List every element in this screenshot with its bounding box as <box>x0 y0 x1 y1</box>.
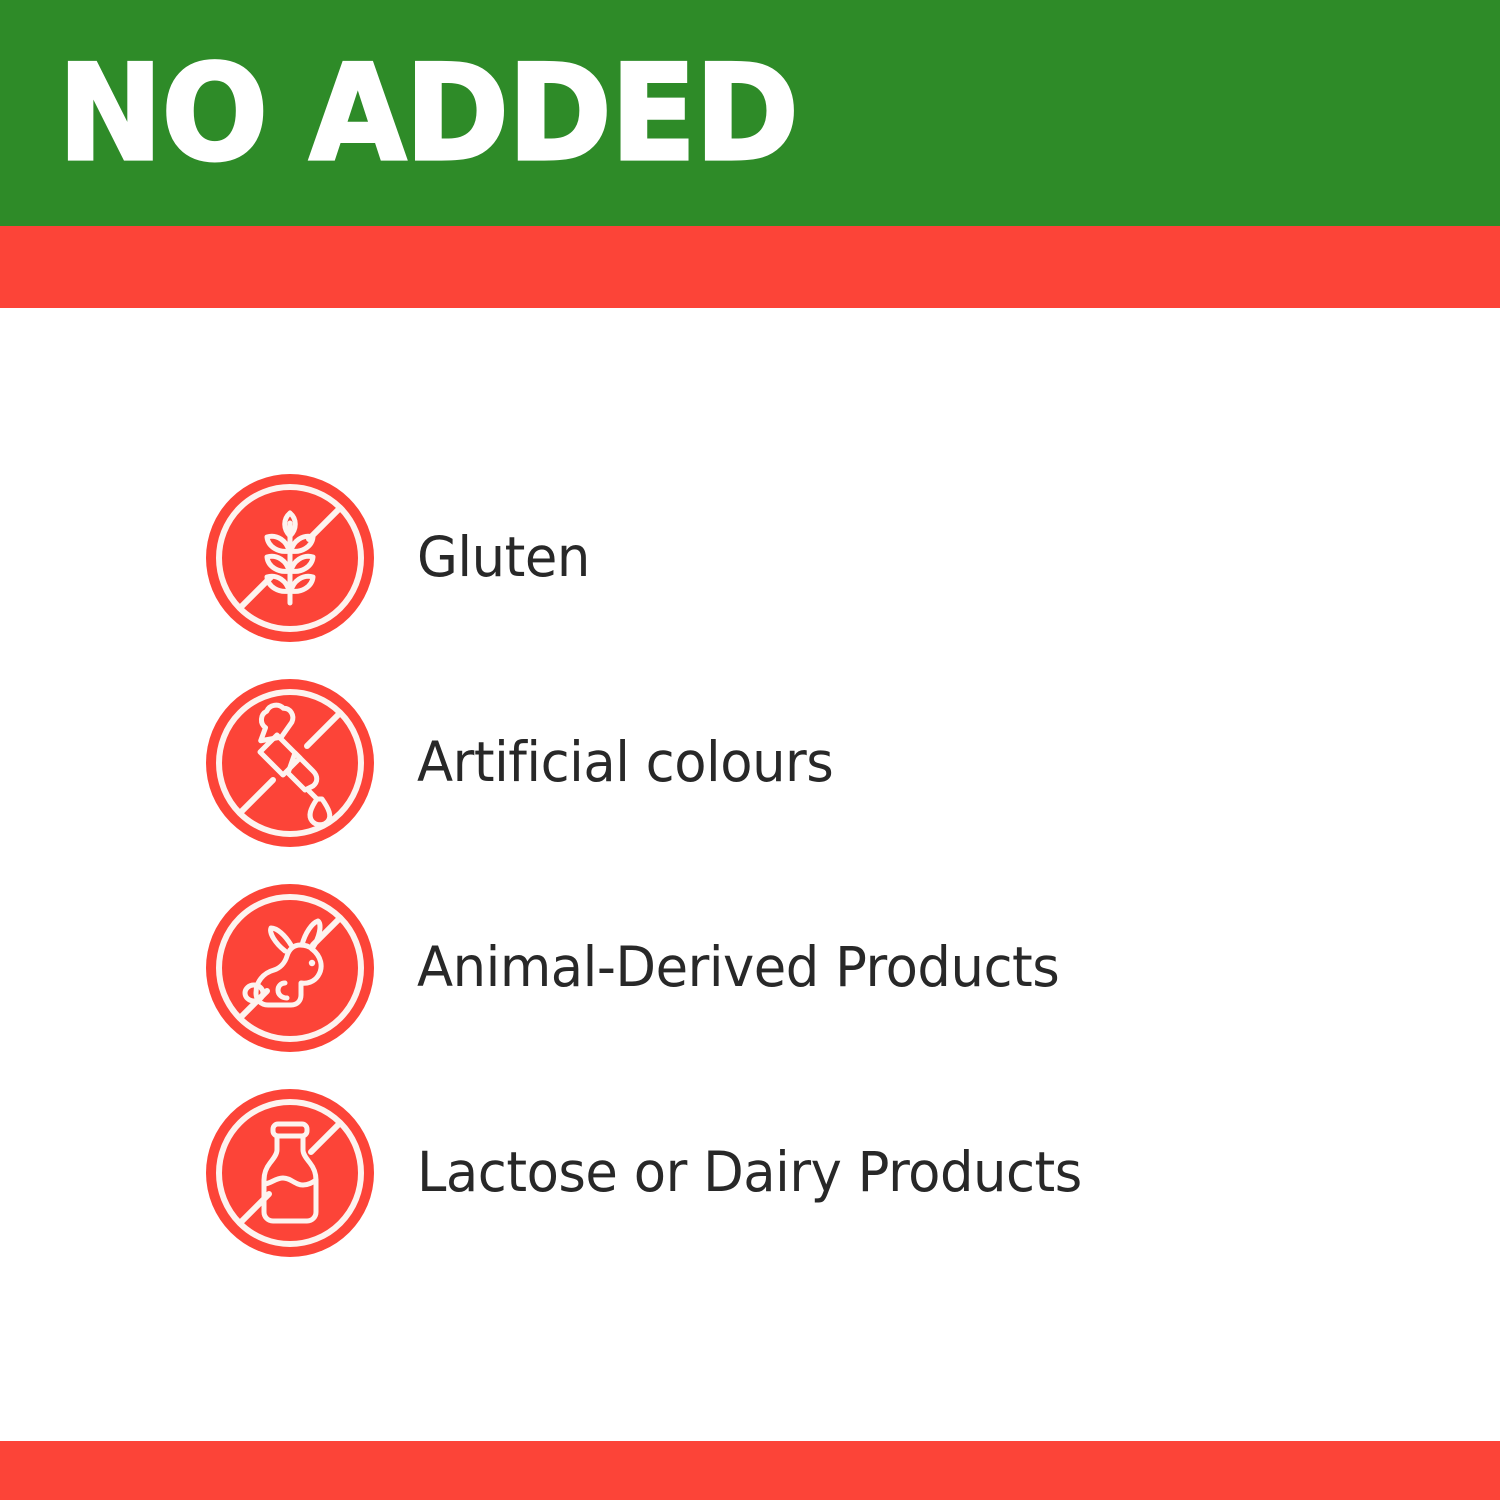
list-item: Animal-Derived Products <box>0 865 1500 1070</box>
list-item: Artificial colours <box>0 660 1500 865</box>
banner-title: NO ADDED <box>58 47 798 179</box>
top-red-bar <box>0 226 1500 308</box>
top-green-banner: NO ADDED <box>0 0 1500 226</box>
no-dairy-icon <box>205 1088 375 1258</box>
claim-label: Artificial colours <box>417 734 833 792</box>
list-item: Gluten <box>0 455 1500 660</box>
no-rabbit-icon <box>205 883 375 1053</box>
claim-label: Animal-Derived Products <box>417 939 1059 997</box>
no-gluten-icon <box>205 473 375 643</box>
claim-label: Gluten <box>417 529 590 587</box>
list-item: Lactose or Dairy Products <box>0 1070 1500 1275</box>
product-claims-graphic: NO ADDED <box>0 0 1500 1500</box>
no-dropper-icon <box>205 678 375 848</box>
claims-list: Gluten <box>0 455 1500 1275</box>
claim-label: Lactose or Dairy Products <box>417 1144 1082 1202</box>
bottom-red-bar <box>0 1441 1500 1500</box>
